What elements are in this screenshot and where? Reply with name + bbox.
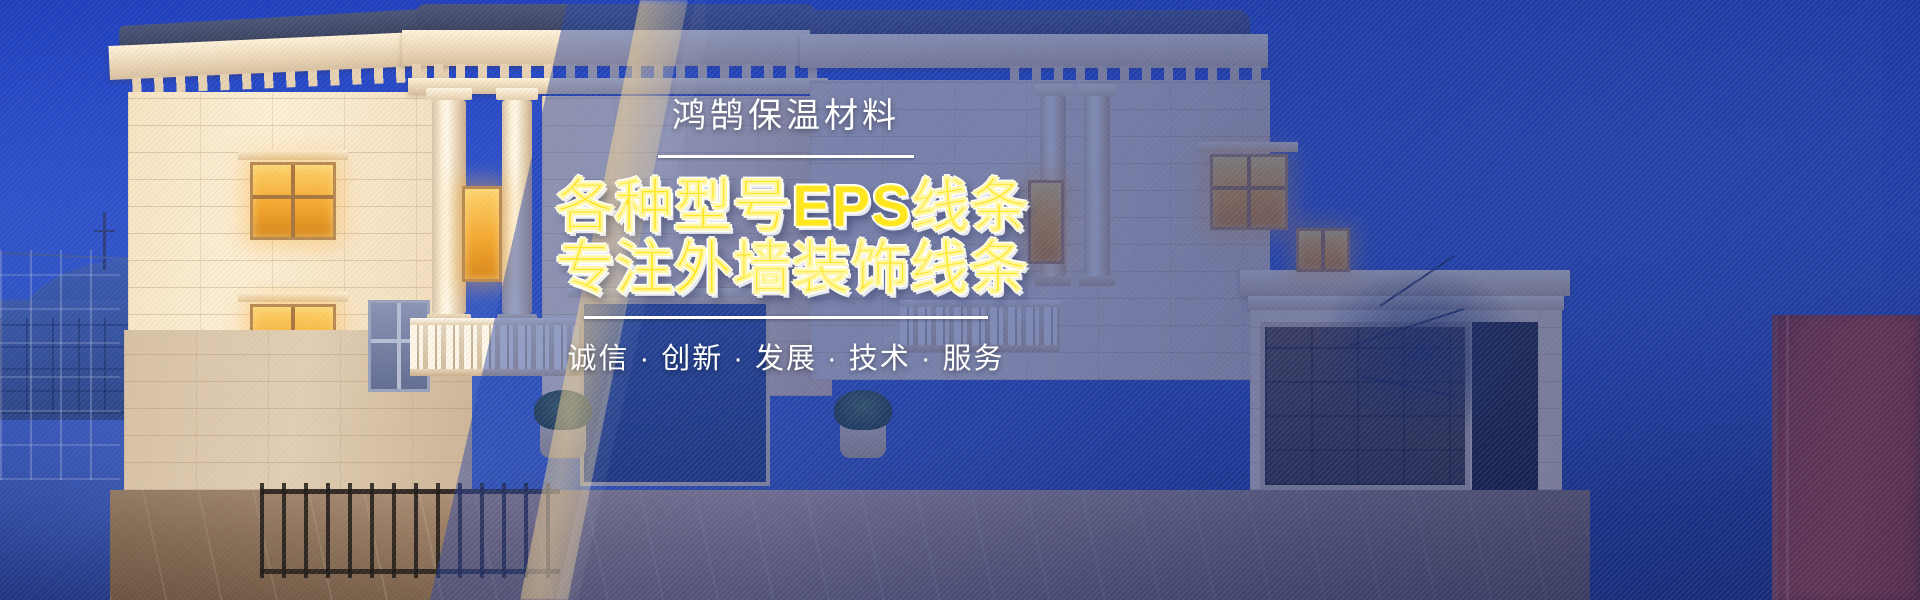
brand-name: 鸿鹄保温材料 <box>556 96 1016 137</box>
headline-line-1: 各种型号EPS线条 <box>556 176 1016 238</box>
portico-window-glow <box>462 186 502 282</box>
left-window-head <box>238 150 348 160</box>
tagline: 诚信 · 创新 · 发展 · 技术 · 服务 <box>556 335 1016 377</box>
divider-upper <box>658 155 914 158</box>
window-mullion-horizontal <box>253 195 333 199</box>
portico-column-1 <box>432 100 466 314</box>
scaffold-mesh <box>0 250 120 480</box>
window-mullion-vertical <box>291 165 295 237</box>
banner-text-block: 鸿鹄保温材料 各种型号EPS线条 专注外墙装饰线条 诚信 · 创新 · 发展 ·… <box>556 96 1016 377</box>
divider-lower <box>584 316 988 319</box>
window-mullion-vertical <box>397 303 401 389</box>
headline-group: 各种型号EPS线条 专注外墙装饰线条 <box>556 176 1016 300</box>
promo-banner: 鸿鹄保温材料 各种型号EPS线条 专注外墙装饰线条 诚信 · 创新 · 发展 ·… <box>0 0 1920 600</box>
left-window-head-lower <box>238 292 348 302</box>
headline-line-2: 专注外墙装饰线条 <box>556 238 1016 300</box>
left-window-upper <box>250 162 336 240</box>
